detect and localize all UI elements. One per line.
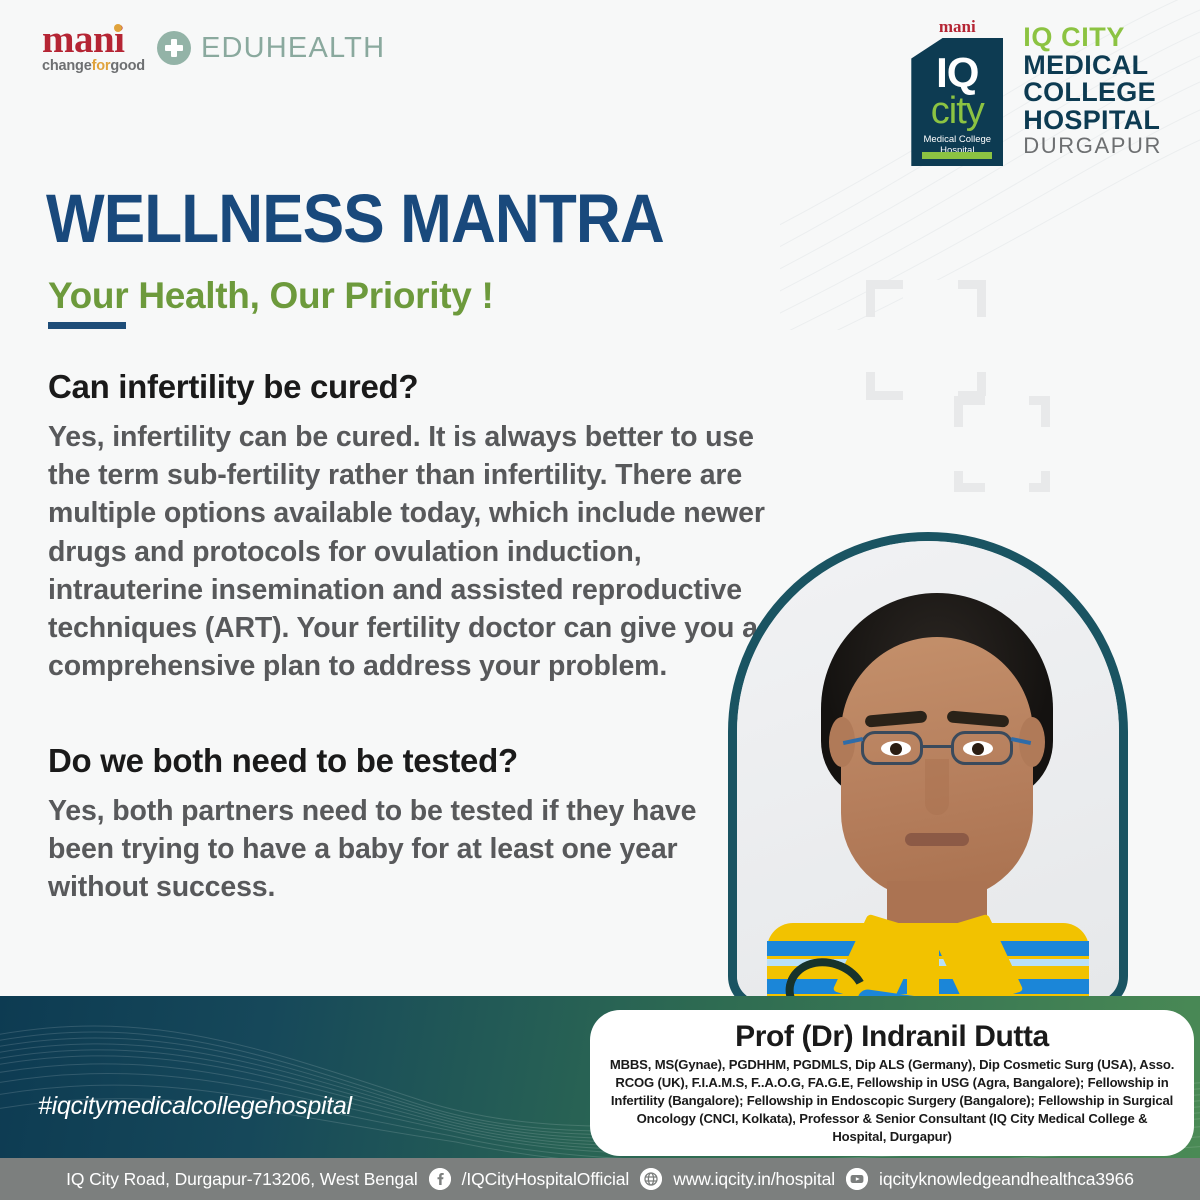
mani-logo: mani changeforgood: [42, 22, 145, 74]
footer-bar: IQ City Road, Durgapur-713206, West Beng…: [0, 1158, 1200, 1200]
iqcity-line-3: COLLEGE: [1023, 79, 1162, 107]
mani-dot-accent: [114, 24, 122, 32]
iqcity-line-2: MEDICAL: [1023, 52, 1162, 80]
doctor-credentials-card: Prof (Dr) Indranil Dutta MBBS, MS(Gynae)…: [590, 1010, 1194, 1156]
iqcity-name-block: IQ CITY MEDICAL COLLEGE HOSPITAL DURGAPU…: [1023, 18, 1162, 158]
answer-2: Yes, both partners need to be tested if …: [48, 792, 728, 907]
iqcity-logo: mani IQ city Medical CollegeHospital IQ …: [911, 18, 1162, 166]
question-1: Can infertility be cured?: [48, 368, 418, 406]
iqcity-badge-wrap: mani IQ city Medical CollegeHospital: [911, 18, 1003, 166]
iqcity-line-1: IQ CITY: [1023, 24, 1162, 52]
facebook-icon[interactable]: [429, 1168, 451, 1190]
eduhealth-label: EDUHEALTH: [201, 32, 385, 65]
iqcity-badge: IQ city Medical CollegeHospital: [911, 38, 1003, 166]
mani-eduhealth-logo: mani changeforgood EDUHEALTH: [42, 22, 385, 74]
footer-facebook-handle[interactable]: /IQCityHospitalOfficial: [462, 1169, 630, 1190]
iqcity-line-5: DURGAPUR: [1023, 134, 1162, 158]
doctor-credentials: MBBS, MS(Gynae), PGDHHM, PGDMLS, Dip ALS…: [608, 1056, 1176, 1146]
medical-cross-watermark-large: [866, 280, 986, 400]
iqcity-line-4: HOSPITAL: [1023, 107, 1162, 135]
mani-text: mani: [42, 18, 125, 61]
accent-rule: [48, 322, 126, 329]
footer-youtube-handle[interactable]: iqcityknowledgeandhealthca3966: [879, 1169, 1134, 1190]
page-title: WELLNESS MANTRA: [46, 184, 664, 253]
hashtag-label: #iqcitymedicalcollegehospital: [38, 1092, 352, 1121]
plus-circle-icon: [157, 31, 191, 65]
badge-mani-label: mani: [911, 18, 1003, 35]
badge-city-label: city: [911, 94, 1003, 128]
youtube-icon[interactable]: [846, 1168, 868, 1190]
badge-green-bar: [922, 152, 992, 159]
answer-1: Yes, infertility can be cured. It is alw…: [48, 418, 788, 685]
page-subtitle: Your Health, Our Priority !: [48, 275, 494, 317]
footer-website[interactable]: www.iqcity.in/hospital: [673, 1169, 835, 1190]
doctor-portrait: [728, 532, 1128, 1010]
badge-iq-label: IQ: [911, 55, 1003, 91]
question-2: Do we both need to be tested?: [48, 742, 518, 780]
footer-address: IQ City Road, Durgapur-713206, West Beng…: [66, 1169, 418, 1190]
globe-icon[interactable]: [640, 1168, 662, 1190]
medical-cross-watermark-small: [954, 396, 1050, 492]
mani-wordmark: mani: [42, 22, 125, 57]
portrait-illustration: [737, 541, 1119, 1001]
doctor-name: Prof (Dr) Indranil Dutta: [608, 1020, 1176, 1054]
